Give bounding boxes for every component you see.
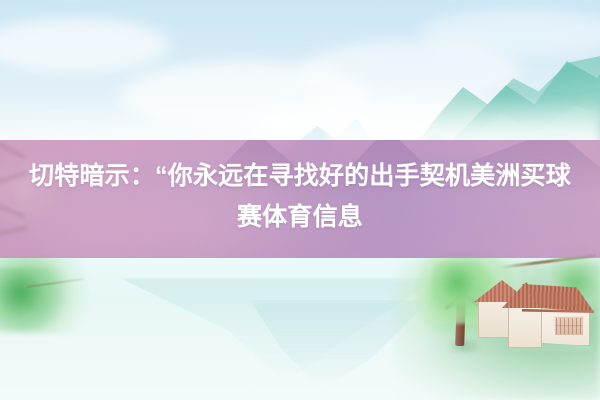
- banner-title-line-1: 切特暗示：“你永远在寻找好的出手契机美洲买球: [29, 156, 571, 197]
- banner-image: 切特暗示：“你永远在寻找好的出手契机美洲买球 赛体育信息: [0, 0, 600, 400]
- banner-title-line-2: 赛体育信息: [237, 197, 363, 238]
- banner-title: 切特暗示：“你永远在寻找好的出手契机美洲买球 赛体育信息: [0, 140, 600, 258]
- foliage-left-dense: [0, 268, 68, 330]
- house: [478, 276, 596, 356]
- house-window-shutters: [556, 318, 582, 334]
